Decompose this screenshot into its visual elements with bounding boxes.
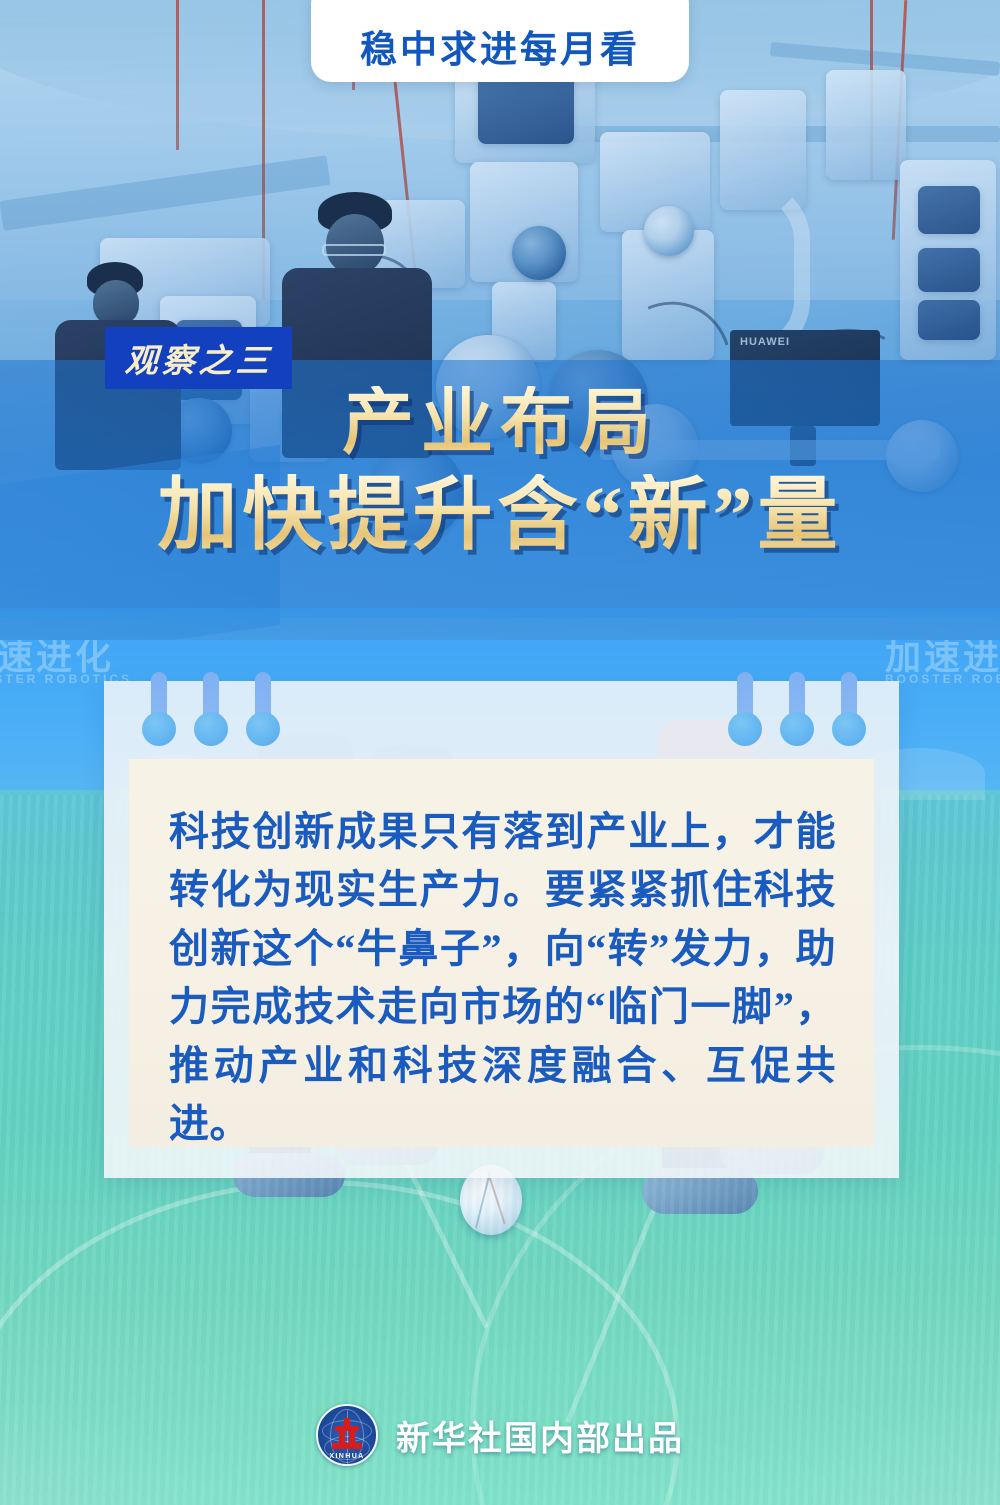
quote-card-inner: 科技创新成果只有落到产业上，才能转化为现实生产力。要紧紧抓住科技创新这个“牛鼻子… — [129, 759, 874, 1147]
header-badge-label: 稳中求进每月看 — [360, 31, 640, 68]
observation-label-text: 观察之三 — [123, 334, 274, 382]
headline: 产业布局 加快提升含“新”量 — [0, 386, 1000, 558]
xinhua-tower-glyph — [332, 1418, 362, 1450]
footer-credit: 新华社国内部出品 — [396, 1411, 684, 1460]
observation-label: 观察之三 — [105, 327, 292, 389]
xinhua-logo-text: XINHUA — [318, 1453, 376, 1460]
poster-root: 加速进化 BOOSTER ROBOTICS 加速进化 BOOSTER ROBOT… — [0, 0, 1000, 1505]
xinhua-logo-icon: XINHUA — [316, 1404, 378, 1466]
headline-line-2: 加快提升含“新”量 — [0, 474, 1000, 558]
footer: XINHUA 新华社国内部出品 — [0, 1404, 1000, 1466]
headline-line-1: 产业布局 — [0, 386, 1000, 462]
quote-text: 科技创新成果只有落到产业上，才能转化为现实生产力。要紧紧抓住科技创新这个“牛鼻子… — [169, 803, 836, 1153]
headline-blue-band-lower — [0, 608, 1000, 640]
header-badge[interactable]: 稳中求进每月看 — [311, 0, 689, 82]
backdrop-brand-en-right: BOOSTER ROBOTICS — [885, 672, 1000, 686]
